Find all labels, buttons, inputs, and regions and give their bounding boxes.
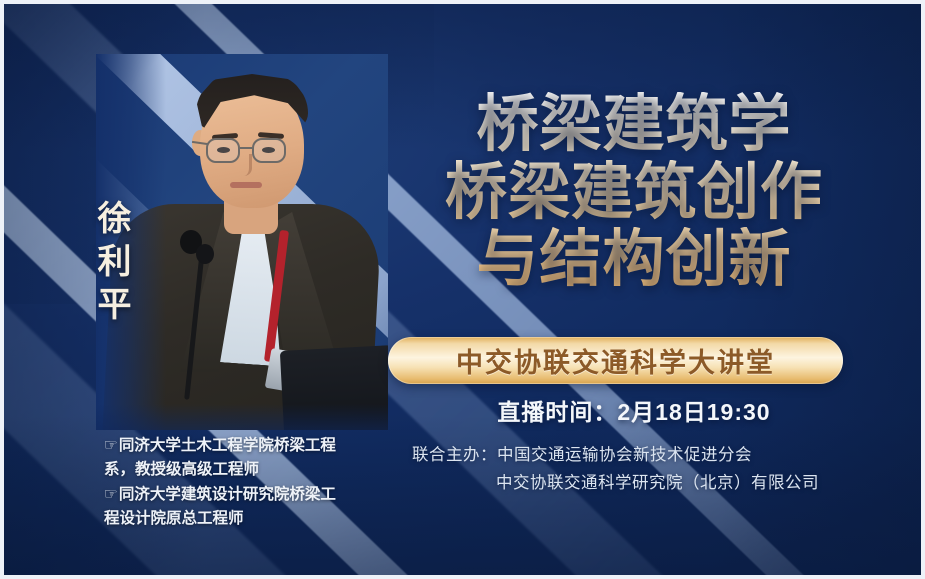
bio-line-1: ☞同济大学土木工程学院桥梁工程 <box>104 434 404 458</box>
photo-mouth <box>230 182 262 188</box>
title-line-1: 桥梁建筑学 <box>394 92 874 158</box>
poster-title: 桥梁建筑学 桥梁建筑创作 与结构创新 <box>394 92 874 293</box>
title-line-3: 与结构创新 <box>394 227 874 293</box>
bio-line-1-text: 同济大学土木工程学院桥梁工程 <box>119 437 336 454</box>
organizer-line-2: 中交协联交通科学研究院（北京）有限公司 <box>412 469 819 497</box>
live-time: 直播时间：2月18日19:30 <box>394 393 874 427</box>
photo-microphone-head-secondary <box>196 244 214 264</box>
title-line-2: 桥梁建筑创作 <box>394 160 874 226</box>
photo-bottom-fade <box>96 404 388 430</box>
organizers: 联合主办：中国交通运输协会新技术促进分会 中交协联交通科学研究院（北京）有限公司 <box>412 441 819 498</box>
bio-line-4: 程设计院原总工程师 <box>104 507 404 531</box>
pointing-hand-icon: ☞ <box>104 437 118 454</box>
speaker-bio: ☞同济大学土木工程学院桥梁工程 系，教授级高级工程师 ☞同济大学建筑设计研究院桥… <box>104 434 404 532</box>
speaker-photo <box>96 54 388 430</box>
speaker-name: 徐利平 <box>88 200 128 329</box>
bio-line-2: 系，教授级高级工程师 <box>104 458 404 482</box>
photo-nose <box>236 154 252 176</box>
series-badge: 中交协联交通科学大讲堂 <box>388 337 843 384</box>
photo-eyeglass-bridge <box>240 147 252 149</box>
pointing-hand-icon-2: ☞ <box>104 486 118 503</box>
bio-line-3-text: 同济大学建筑设计研究院桥梁工 <box>119 486 336 503</box>
organizer-line-1: 联合主办：中国交通运输协会新技术促进分会 <box>412 441 819 469</box>
photo-eyeglass-lens-right <box>252 138 286 163</box>
bio-line-3: ☞同济大学建筑设计研究院桥梁工 <box>104 483 404 507</box>
series-badge-label: 中交协联交通科学大讲堂 <box>456 341 775 380</box>
webinar-poster: 徐利平 ☞同济大学土木工程学院桥梁工程 系，教授级高级工程师 ☞同济大学建筑设计… <box>0 0 925 579</box>
photo-eyeglass-lens-left <box>206 138 240 163</box>
